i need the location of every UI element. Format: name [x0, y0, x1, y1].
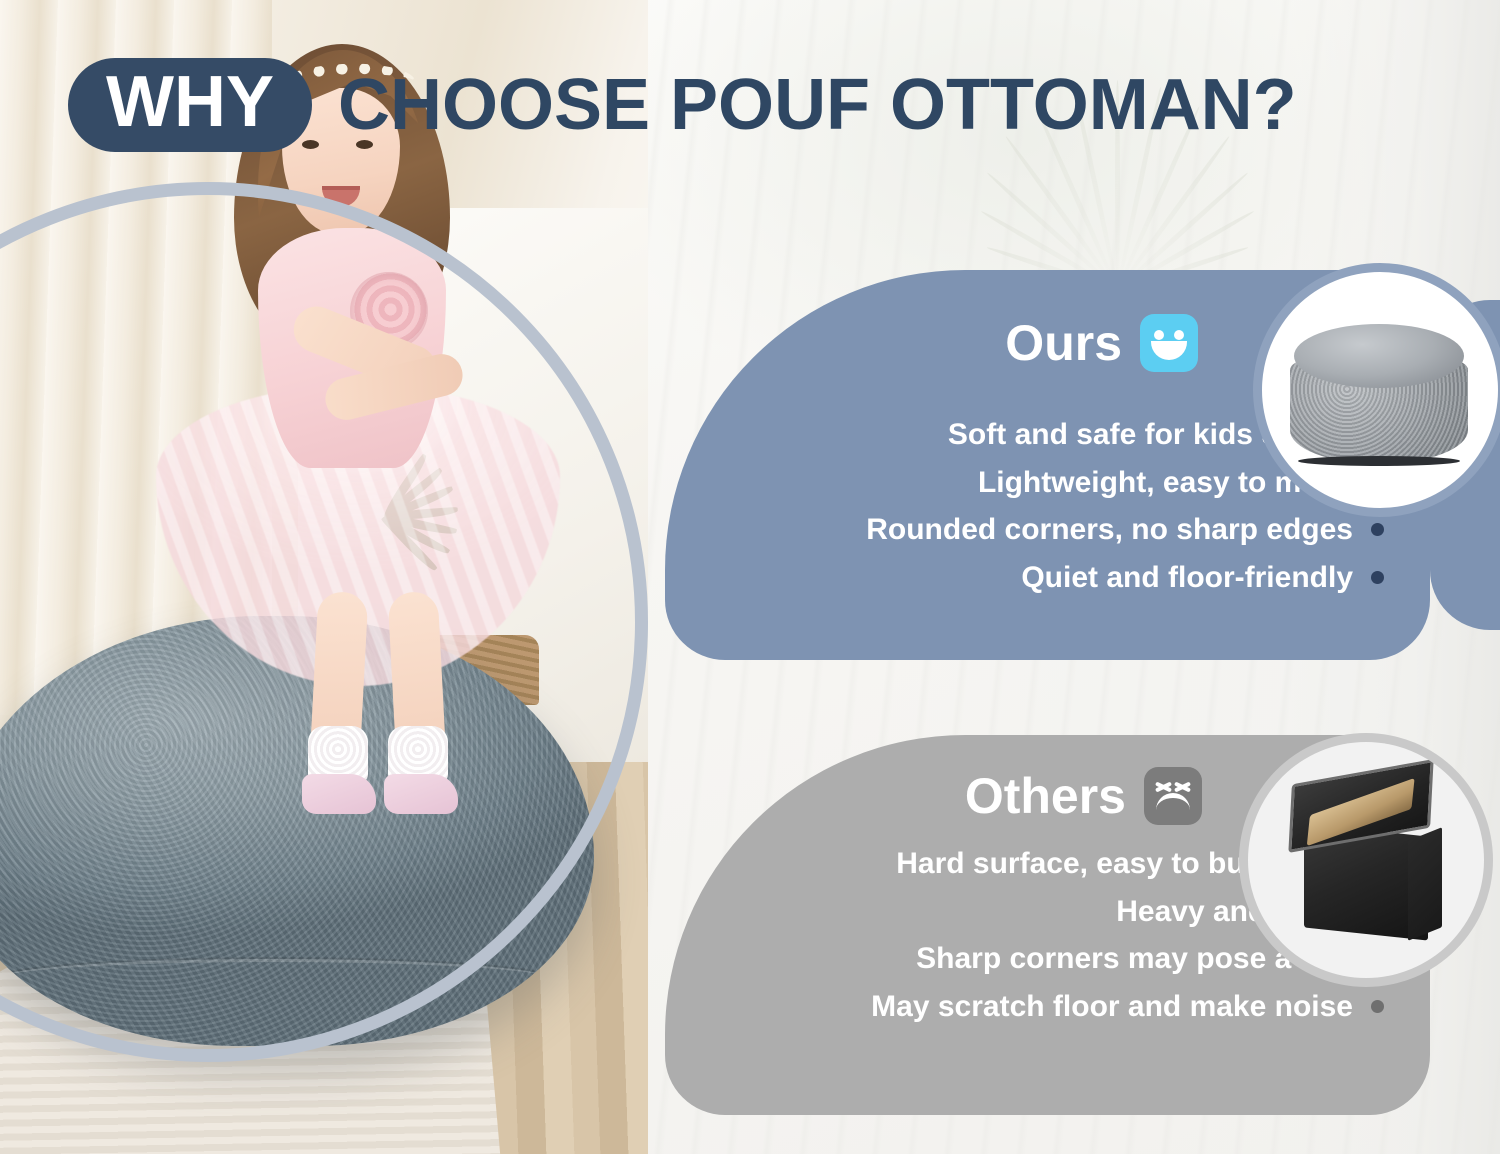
infographic-page: WHY CHOOSE POUF OTTOMAN?	[0, 0, 1500, 1154]
page-header: WHY CHOOSE POUF OTTOMAN?	[68, 58, 1297, 152]
why-badge: WHY	[68, 58, 312, 152]
sad-eye-right	[1174, 785, 1191, 788]
box-side	[1408, 827, 1442, 941]
hero-circle-frame	[0, 182, 648, 1062]
bullet-dot-icon	[1371, 571, 1384, 584]
page-title: CHOOSE POUF OTTOMAN?	[338, 69, 1297, 141]
others-bullet-text: May scratch floor and make noise	[871, 988, 1353, 1026]
sad-eye-left	[1155, 785, 1172, 788]
others-product-thumbnail	[1248, 742, 1484, 978]
pouf-base-shadow	[1298, 456, 1460, 466]
bullet-dot-icon	[1371, 1000, 1384, 1013]
round-pouf-product-image	[1290, 324, 1468, 464]
hero-circle-ring	[0, 182, 648, 1062]
sad-frown	[1156, 793, 1190, 814]
list-item: Rounded corners, no sharp edges	[866, 511, 1384, 549]
others-heading: Others	[965, 771, 1126, 821]
happy-eye-right	[1174, 330, 1184, 340]
bullet-dot-icon	[1371, 523, 1384, 536]
happy-smile	[1151, 341, 1187, 360]
pouf-top	[1294, 324, 1464, 388]
ours-heading: Ours	[1005, 318, 1122, 368]
sad-face-icon	[1144, 767, 1202, 825]
list-item: Quiet and floor-friendly	[1021, 559, 1384, 597]
happy-eye-left	[1154, 330, 1164, 340]
ours-bullet-text: Rounded corners, no sharp edges	[866, 511, 1353, 549]
happy-face-icon	[1140, 314, 1198, 372]
others-heading-group: Others	[965, 767, 1202, 825]
ours-heading-group: Ours	[1005, 314, 1198, 372]
list-item: May scratch floor and make noise	[871, 988, 1384, 1026]
ours-product-thumbnail	[1262, 272, 1498, 508]
square-storage-box-product-image	[1282, 772, 1452, 952]
ours-bullet-text: Quiet and floor-friendly	[1021, 559, 1353, 597]
